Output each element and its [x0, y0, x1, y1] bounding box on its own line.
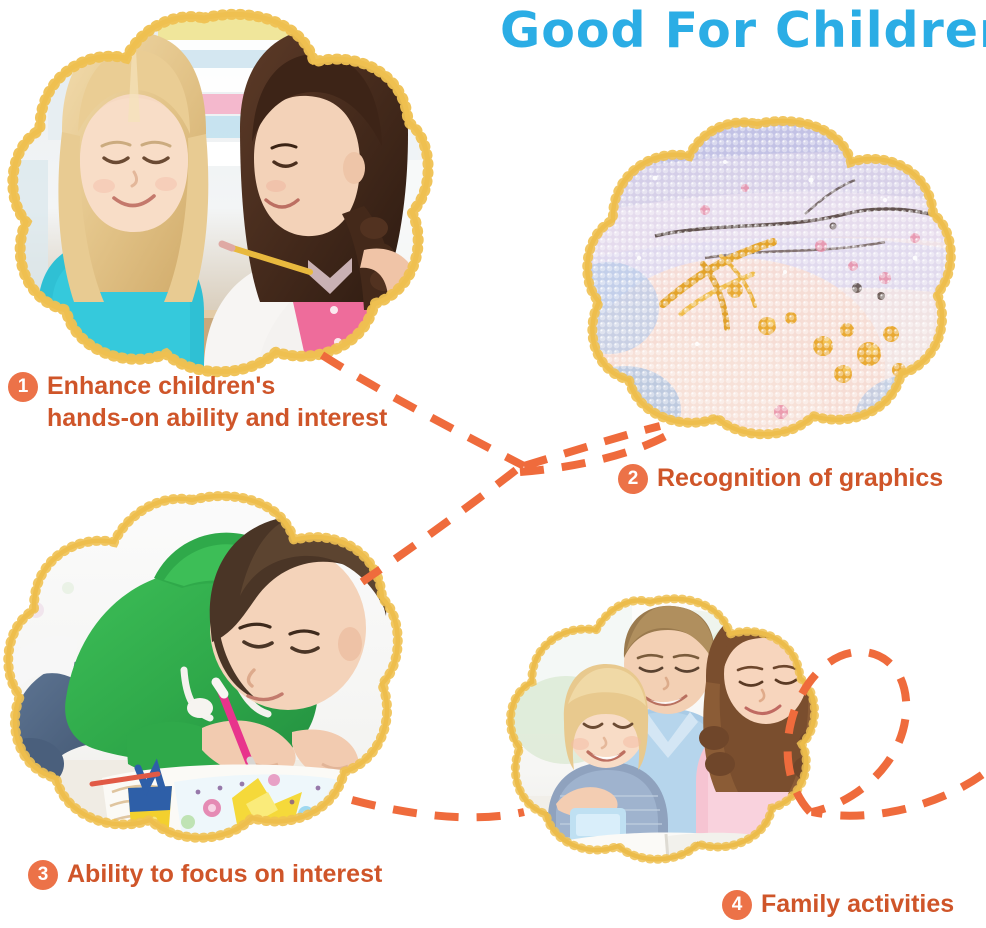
- caption-text-3: Ability to focus on interest: [67, 858, 382, 890]
- photo-frame-3: [6, 492, 401, 852]
- photo-frame-4: [500, 596, 820, 886]
- badge-number-3: 3: [28, 860, 58, 890]
- badge-number-2: 2: [618, 464, 648, 494]
- caption-text-4: Family activities: [761, 888, 954, 920]
- caption-1: 1 Enhance children's hands-on ability an…: [8, 370, 387, 434]
- photo-frame-2: [585, 118, 955, 448]
- caption-text-2: Recognition of graphics: [657, 462, 943, 494]
- caption-3: 3 Ability to focus on interest: [28, 858, 382, 890]
- two-girls-at-desk-photo: [8, 10, 428, 370]
- photo-frame-1: [8, 10, 428, 370]
- badge-number-1: 1: [8, 372, 38, 402]
- caption-4: 4 Family activities: [722, 888, 954, 920]
- caption-text-1: Enhance children's hands-on ability and …: [47, 370, 387, 434]
- family-reading-book-photo: [500, 596, 820, 886]
- badge-number-4: 4: [722, 890, 752, 920]
- good-for-children-infographic: Good For Children: [0, 0, 986, 928]
- page-title: Good For Children: [500, 2, 970, 59]
- diamond-painting-closeup-photo: [585, 118, 955, 448]
- boy-drawing-on-floor-photo: [6, 492, 401, 852]
- caption-2: 2 Recognition of graphics: [618, 462, 943, 494]
